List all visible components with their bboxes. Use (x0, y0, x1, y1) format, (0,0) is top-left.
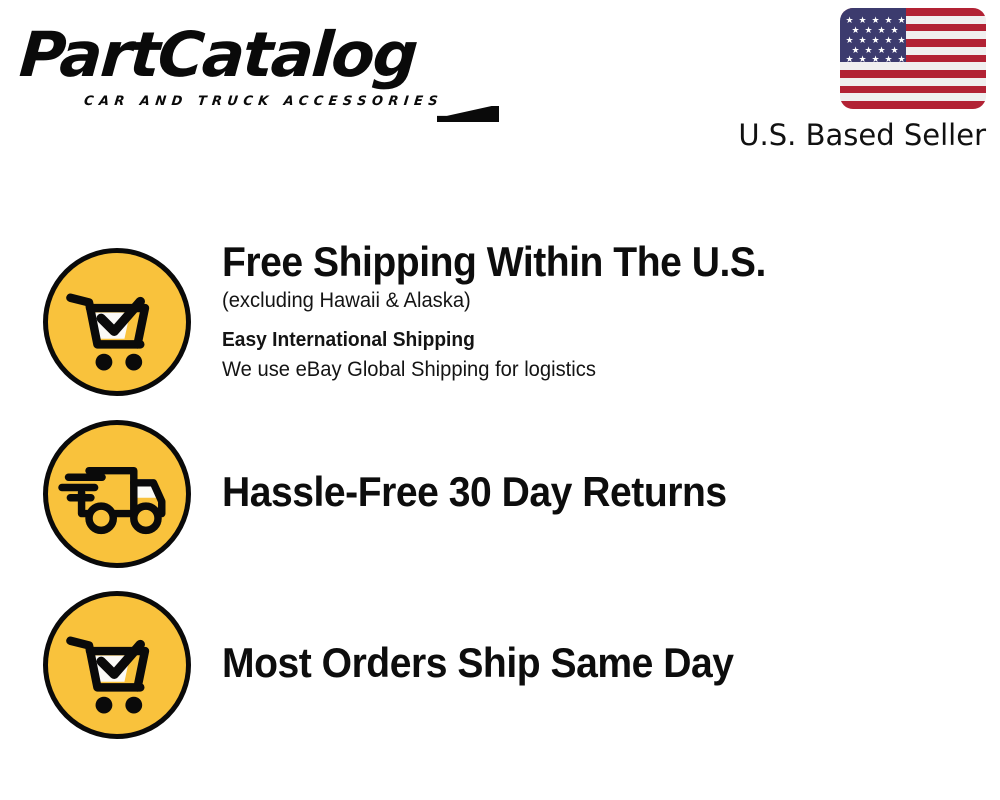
feature-subtitle-detail: We use eBay Global Shipping for logistic… (222, 355, 952, 385)
shopping-cart-check-icon (43, 591, 191, 739)
brand-swoosh-icon (437, 106, 499, 122)
brand-tagline: CAR AND TRUCK ACCESSORIES (83, 94, 444, 109)
feature-row: Free Shipping Within The U.S. (excluding… (0, 238, 1000, 410)
us-flag-icon: ★ ★ ★ ★ ★ ★ ★ ★ ★ ★ ★ ★ ★ ★ ★ ★ ★ ★ ★ ★ … (840, 8, 986, 109)
brand-wordmark: PartCatalog (18, 24, 502, 86)
feature-text: Most Orders Ship Same Day (222, 639, 982, 687)
feature-row: Hassle-Free 30 Day Returns (0, 410, 1000, 582)
seller-badge: ★ ★ ★ ★ ★ ★ ★ ★ ★ ★ ★ ★ ★ ★ ★ ★ ★ ★ ★ ★ … (706, 8, 986, 152)
shopping-cart-check-icon (43, 248, 191, 396)
feature-subtitle: (excluding Hawaii & Alaska) (222, 286, 952, 316)
feature-title: Hassle-Free 30 Day Returns (222, 468, 929, 516)
brand-logo[interactable]: PartCatalog CAR AND TRUCK ACCESSORIES (22, 24, 492, 114)
seller-badge-label: U.S. Based Seller (706, 118, 986, 152)
delivery-truck-icon (43, 420, 191, 568)
feature-title: Free Shipping Within The U.S. (222, 238, 929, 286)
feature-title: Most Orders Ship Same Day (222, 639, 929, 687)
feature-subtitle-strong: Easy International Shipping (222, 316, 952, 355)
page-header: PartCatalog CAR AND TRUCK ACCESSORIES ★ … (0, 0, 1000, 170)
feature-row: Most Orders Ship Same Day (0, 581, 1000, 753)
feature-text: Free Shipping Within The U.S. (excluding… (222, 238, 982, 385)
feature-text: Hassle-Free 30 Day Returns (222, 468, 982, 516)
